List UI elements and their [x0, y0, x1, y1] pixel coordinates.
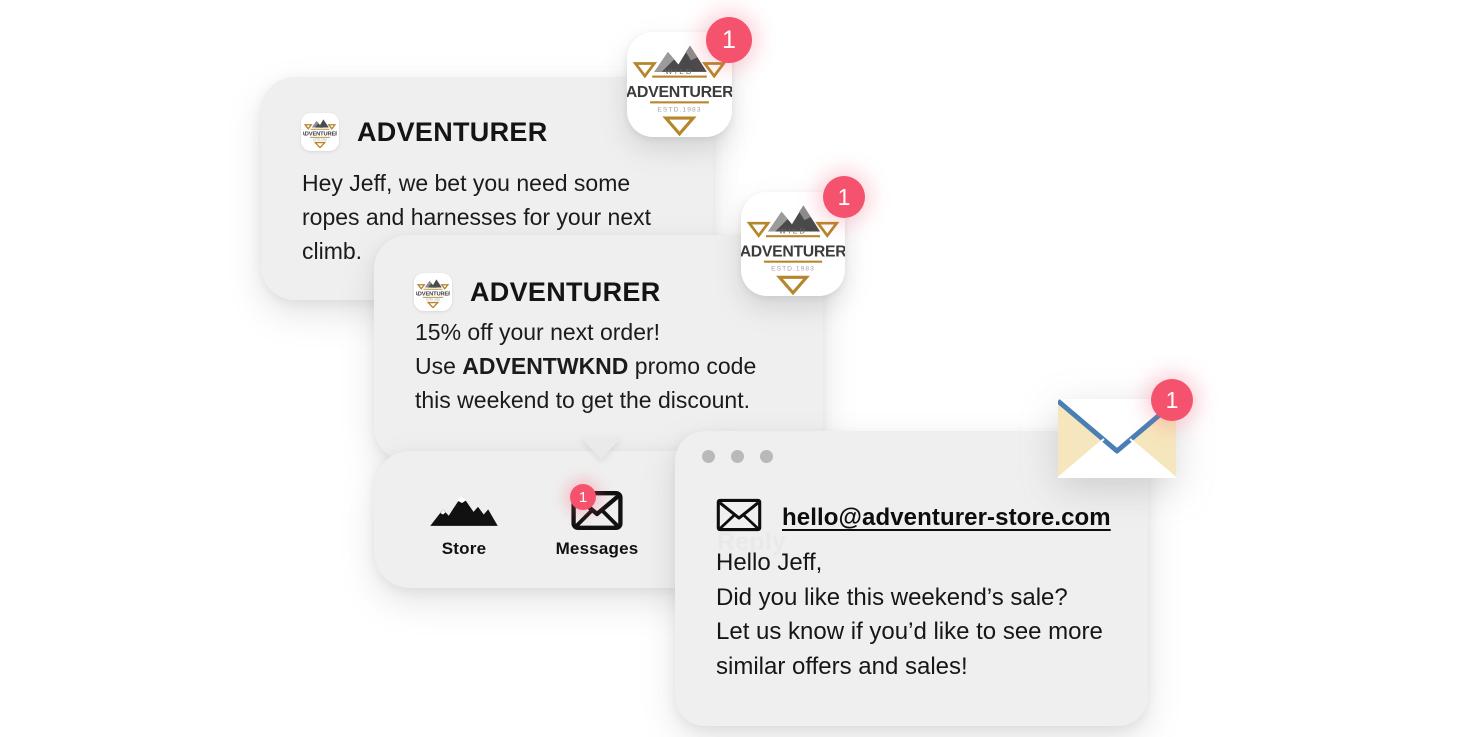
svg-text:WILD: WILD — [316, 125, 324, 129]
window-controls — [702, 450, 773, 463]
email-body-text: Hello Jeff, Did you like this weekend’s … — [716, 546, 1156, 684]
envelope-icon: 1 — [537, 489, 657, 531]
window-dot — [760, 450, 773, 463]
notification-app-name: ADVENTURER — [470, 279, 661, 306]
svg-text:ESTD.1983: ESTD.1983 — [313, 138, 327, 142]
svg-text:ADVENTURER: ADVENTURER — [303, 132, 337, 138]
tab-messages[interactable]: 1 Messages — [537, 489, 657, 559]
adventurer-logo-icon: WILD ADVENTURER ESTD.1983 — [414, 273, 452, 311]
email-address-link[interactable]: hello@adventurer-store.com — [782, 504, 1111, 532]
svg-text:WILD: WILD — [429, 285, 437, 289]
svg-text:WILD: WILD — [779, 227, 807, 236]
email-sender-row[interactable]: hello@adventurer-store.com — [716, 497, 1111, 538]
mountain-icon — [404, 489, 524, 531]
messages-badge: 1 — [570, 484, 596, 510]
svg-text:ESTD.1983: ESTD.1983 — [771, 266, 815, 273]
notification-header-1: WILD ADVENTURER ESTD.1983 ADVENTURER — [301, 113, 548, 151]
promo-line-3: this weekend to get the discount. — [415, 387, 750, 413]
tab-store-label: Store — [404, 539, 524, 559]
window-dot — [702, 450, 715, 463]
adventurer-logo-icon: WILD ADVENTURER ESTD.1983 — [301, 113, 339, 151]
svg-text:ESTD.1983: ESTD.1983 — [657, 106, 701, 113]
tab-store[interactable]: Store — [404, 489, 524, 559]
promo-line-1: 15% off your next order! — [415, 319, 660, 345]
svg-text:ESTD.1983: ESTD.1983 — [426, 298, 440, 302]
promo-code: ADVENTWKND — [462, 353, 628, 379]
notification-body-2: 15% off your next order! Use ADVENTWKND … — [415, 315, 805, 417]
svg-text:ADVENTURER: ADVENTURER — [416, 292, 450, 298]
svg-text:ADVENTURER: ADVENTURER — [741, 243, 845, 260]
svg-text:ADVENTURER: ADVENTURER — [627, 84, 732, 101]
svg-text:WILD: WILD — [665, 67, 694, 76]
app-icon-badge-1: 1 — [706, 17, 752, 63]
app-icon-badge-2: 1 — [823, 176, 865, 218]
promo-line-2-suffix: promo code — [628, 353, 756, 379]
notification-header-2: WILD ADVENTURER ESTD.1983 ADVENTURER — [414, 273, 661, 311]
notification-app-name: ADVENTURER — [357, 119, 548, 146]
promo-line-2-prefix: Use — [415, 353, 462, 379]
envelope-icon — [716, 497, 762, 538]
window-dot — [731, 450, 744, 463]
mail-badge: 1 — [1151, 379, 1193, 421]
tab-messages-label: Messages — [537, 539, 657, 559]
tooltip-notch — [580, 437, 622, 459]
illustration-canvas: WILD ADVENTURER ESTD.1983 ADVENTURER Hey… — [0, 0, 1474, 737]
